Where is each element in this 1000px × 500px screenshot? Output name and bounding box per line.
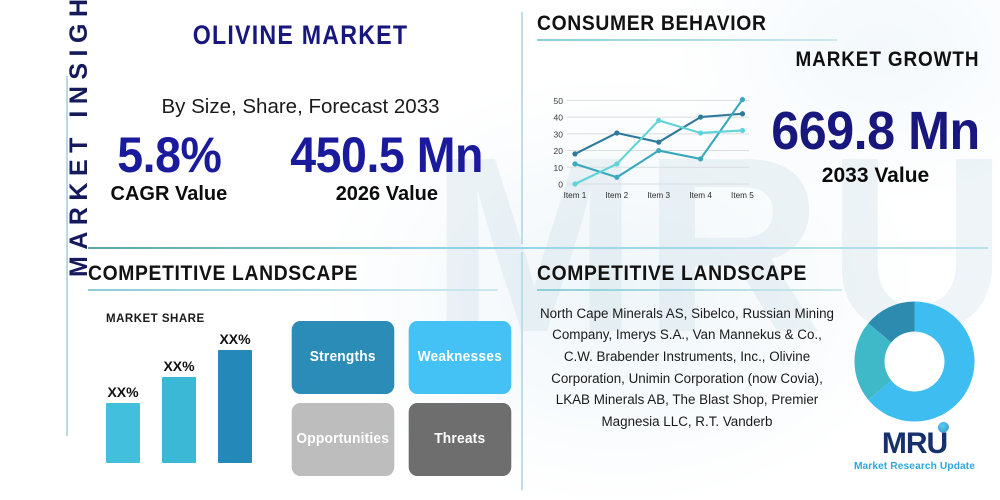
svg-text:Item 2: Item 2 xyxy=(605,191,628,200)
section-heading-competitive-left: COMPETITIVE LANDSCAPE xyxy=(88,262,358,286)
stat-2026: 450.5 Mn 2026 Value xyxy=(283,129,490,206)
bar-column: XX% xyxy=(218,331,252,463)
stats-row: 5.8% CAGR Value 450.5 Mn 2026 Value xyxy=(88,129,513,206)
growth-value: 669.8 Mn xyxy=(767,104,984,158)
vertical-divider-top xyxy=(521,12,523,244)
bar xyxy=(218,350,252,463)
bar xyxy=(162,377,196,463)
page-subtitle: By Size, Share, Forecast 2033 xyxy=(88,95,513,119)
bar-column: XX% xyxy=(162,331,196,463)
swot-cell-threats[interactable]: Threats xyxy=(408,403,510,476)
line-chart-svg: 01020304050Item 1Item 2Item 3Item 4Item … xyxy=(537,84,759,212)
donut-column: MRU Market Research Update xyxy=(837,299,992,472)
competitive-right-body: North Cape Minerals AS, Sibelco, Russian… xyxy=(537,299,992,472)
svg-text:Item 5: Item 5 xyxy=(731,191,754,200)
svg-text:0: 0 xyxy=(558,179,563,189)
stat-2026-label: 2026 Value xyxy=(283,183,490,206)
panel-overview: OLIVINE MARKET By Size, Share, Forecast … xyxy=(88,10,513,242)
stat-cagr: 5.8% CAGR Value xyxy=(111,129,228,206)
svg-text:50: 50 xyxy=(554,95,564,105)
market-growth-title: MARKET GROWTH xyxy=(583,48,993,72)
consumer-behavior-body: 01020304050Item 1Item 2Item 3Item 4Item … xyxy=(537,84,992,212)
swot-cell-label: Weaknesses xyxy=(417,349,501,365)
growth-label: 2033 Value xyxy=(759,164,992,188)
section-underline-right xyxy=(537,289,842,291)
svg-text:40: 40 xyxy=(554,112,564,122)
logo-mark: MRU xyxy=(882,429,947,459)
company-list: North Cape Minerals AS, Sibelco, Russian… xyxy=(537,299,837,472)
stat-cagr-label: CAGR Value xyxy=(111,183,228,206)
swot-cell-label: Threats xyxy=(434,431,485,447)
competitive-left-body: MARKET SHARE XX%XX%XX% StrengthsWeakness… xyxy=(88,313,513,476)
bar-column: XX% xyxy=(106,331,140,463)
stat-2026-value: 450.5 Mn xyxy=(290,129,483,182)
section-heading-consumer-behavior: CONSUMER BEHAVIOR xyxy=(537,12,767,36)
swot-cell-strengths[interactable]: Strengths xyxy=(292,321,394,394)
bar-value-label: XX% xyxy=(219,331,250,347)
svg-text:Item 4: Item 4 xyxy=(689,191,712,200)
swot-cell-label: Strengths xyxy=(310,349,376,365)
panel-competitive-landscape-left: COMPETITIVE LANDSCAPE MARKET SHARE XX%XX… xyxy=(88,262,513,490)
svg-text:Item 3: Item 3 xyxy=(647,191,670,200)
swot-cell-opportunities[interactable]: Opportunities xyxy=(292,403,394,476)
swot-cell-label: Opportunities xyxy=(296,431,389,447)
stat-cagr-value: 5.8% xyxy=(115,129,224,182)
svg-text:10: 10 xyxy=(554,162,564,172)
swot-grid: StrengthsWeaknessesOpportunitiesThreats xyxy=(289,321,513,476)
section-underline-left xyxy=(88,289,498,291)
svg-text:30: 30 xyxy=(554,129,564,139)
bar-chart: MARKET SHARE XX%XX%XX% xyxy=(88,313,283,476)
infographic-root: MRU MARKET INSIGHTS OLIVINE MARKET By Si… xyxy=(0,0,1000,500)
bar-value-label: XX% xyxy=(107,384,138,400)
svg-text:Item 1: Item 1 xyxy=(564,191,587,200)
panel-competitive-landscape-right: COMPETITIVE LANDSCAPE North Cape Mineral… xyxy=(537,262,992,490)
bar-chart-bars: XX%XX%XX% xyxy=(106,331,283,463)
logo-tagline: Market Research Update xyxy=(854,461,975,472)
swot-cell-weaknesses[interactable]: Weaknesses xyxy=(408,321,510,394)
horizontal-divider xyxy=(88,247,988,249)
growth-figure: 669.8 Mn 2033 Value xyxy=(759,84,992,212)
line-chart: 01020304050Item 1Item 2Item 3Item 4Item … xyxy=(537,84,759,212)
brand-logo: MRU Market Research Update xyxy=(854,429,975,472)
page-title: OLIVINE MARKET xyxy=(118,20,484,51)
donut-chart xyxy=(852,299,977,424)
svg-text:20: 20 xyxy=(554,146,564,156)
section-heading-competitive-right: COMPETITIVE LANDSCAPE xyxy=(537,262,807,286)
vertical-divider-bottom xyxy=(521,252,523,490)
bar-chart-caption: MARKET SHARE xyxy=(106,313,283,325)
logo-mark-text: MRU xyxy=(882,427,947,460)
bar-value-label: XX% xyxy=(163,358,194,374)
logo-droplet-icon xyxy=(938,422,949,433)
section-underline xyxy=(537,39,837,41)
panel-consumer-behavior: CONSUMER BEHAVIOR MARKET GROWTH 01020304… xyxy=(537,12,992,244)
bar xyxy=(106,403,140,462)
